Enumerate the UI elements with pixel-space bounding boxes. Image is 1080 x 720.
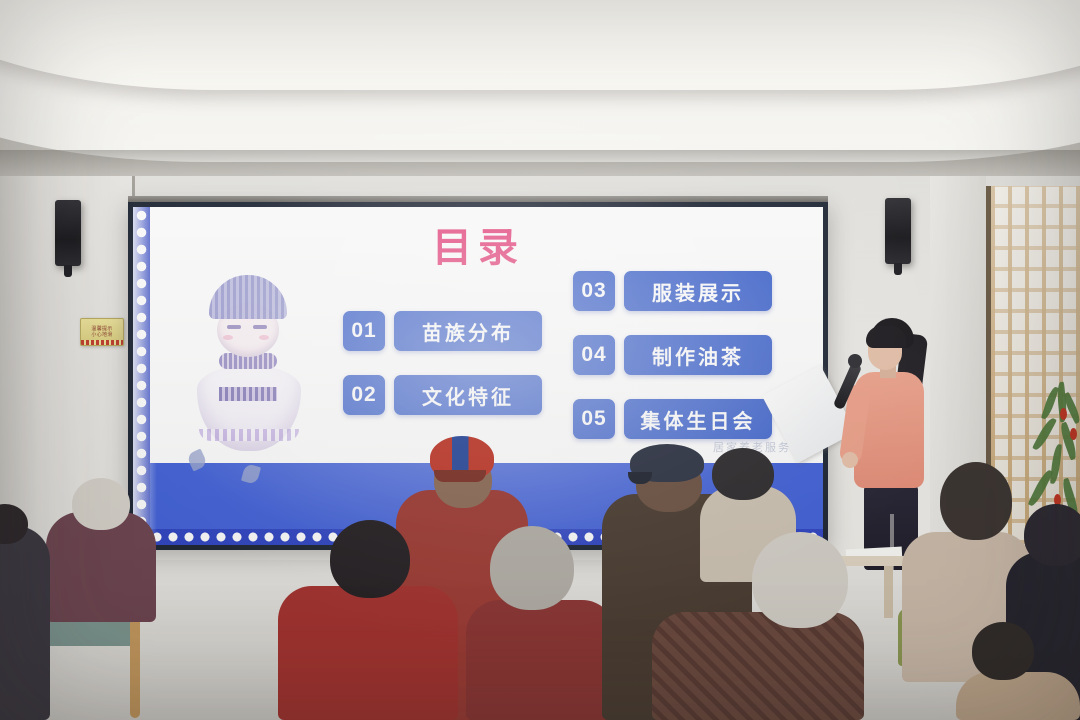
agenda-number: 03: [573, 271, 615, 311]
photo-scene: 温馨提示 小心地滑 目录: [0, 0, 1080, 720]
audience-head: [752, 532, 848, 628]
audience-torso: [956, 672, 1080, 720]
cap-brim: [434, 470, 486, 482]
mascot-dress-hem: [199, 429, 299, 441]
agenda-label: 制作油茶: [624, 335, 772, 375]
miao-girl-illustration: [183, 269, 313, 459]
presenter-hand: [842, 452, 858, 468]
audience-head: [940, 462, 1012, 540]
wall-speaker-right: [885, 198, 911, 264]
audience-head: [712, 448, 774, 500]
mascot-eye-right: [253, 325, 267, 329]
agenda-number: 05: [573, 399, 615, 439]
audience-head: [490, 526, 574, 610]
mascot-belt: [219, 387, 277, 401]
audience-torso: [652, 612, 864, 720]
audience-head: [1024, 504, 1080, 566]
agenda-number: 04: [573, 335, 615, 375]
agenda-label: 苗族分布: [394, 311, 542, 351]
agenda-number: 01: [343, 311, 385, 351]
slide-title: 目录: [133, 215, 823, 273]
microphone-head: [848, 354, 862, 368]
berry: [1060, 408, 1067, 420]
audience-torso: [466, 600, 616, 720]
audience-torso: [278, 586, 458, 720]
audience-head: [330, 520, 410, 598]
agenda-item-03[interactable]: 03 服装展示: [573, 271, 772, 311]
notice-line-2: 小心地滑: [91, 332, 112, 338]
mascot-blush-left: [223, 335, 233, 340]
ceiling-curve: [0, 0, 1080, 90]
agenda-item-05[interactable]: 05 集体生日会: [573, 399, 772, 439]
soffit-shadow: [0, 150, 1080, 176]
agenda-label: 服装展示: [624, 271, 772, 311]
mascot-headdress: [209, 275, 287, 319]
agenda-item-02[interactable]: 02 文化特征: [343, 375, 542, 415]
berry: [1070, 428, 1077, 440]
table-leg: [884, 566, 893, 618]
agenda-label: 集体生日会: [624, 399, 772, 439]
wall-speaker-left: [55, 200, 81, 266]
chair-leg: [130, 618, 140, 718]
mascot-eye-left: [227, 325, 241, 329]
agenda-item-04[interactable]: 04 制作油茶: [573, 335, 772, 375]
notice-stripe: [81, 340, 123, 345]
presenter-hair-front: [866, 326, 906, 348]
agenda-number: 02: [343, 375, 385, 415]
wall-notice-sign: 温馨提示 小心地滑: [80, 318, 124, 346]
audience-head: [72, 478, 130, 530]
audience-head: [972, 622, 1034, 680]
audience-torso: [0, 526, 50, 720]
agenda-label: 文化特征: [394, 375, 542, 415]
mascot-blush-right: [259, 335, 269, 340]
agenda-item-01[interactable]: 01 苗族分布: [343, 311, 542, 351]
